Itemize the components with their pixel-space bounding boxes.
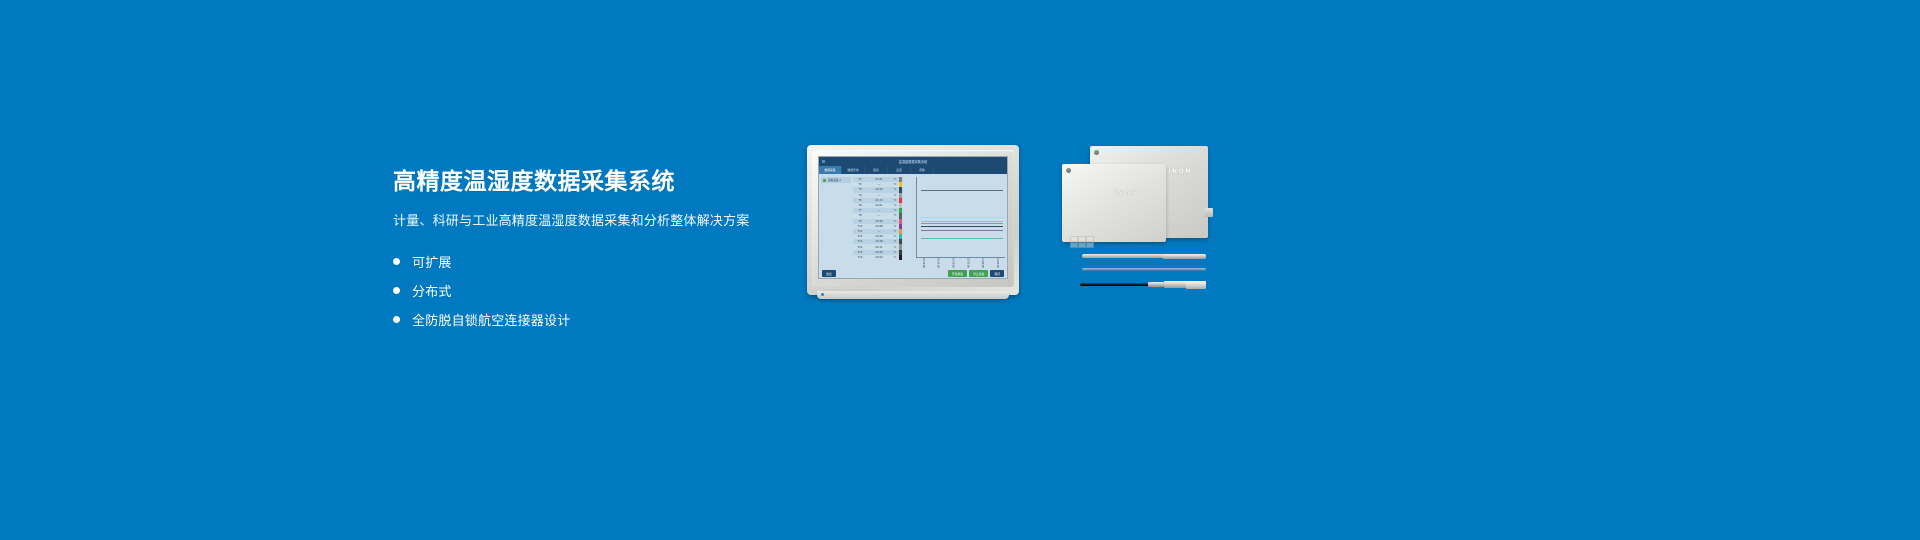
x-tick-label: 10:45:00 (937, 258, 940, 269)
cell-value: 24.96 (867, 220, 891, 223)
cell-value: 24.99 (867, 188, 891, 191)
series-color-swatch (899, 255, 902, 260)
feature-label: 可扩展 (412, 252, 452, 271)
probe-end-cap (1186, 281, 1206, 289)
feature-label: 全防脱自锁航空连接器设计 (412, 310, 570, 329)
screw-icon (1066, 168, 1071, 173)
cell-value: 21.81 (867, 178, 891, 181)
cell-unit: ℃ (891, 194, 899, 197)
list-item: 全防脱自锁航空连接器设计 (393, 305, 823, 334)
screw-icon (1094, 150, 1099, 155)
cell-unit: ℃ (891, 246, 899, 249)
trend-chart: 10:40:00 10:45:00 10:50:00 10:55:00 11:0… (905, 177, 1005, 269)
page-title: 高精度温湿度数据采集系统 (393, 168, 823, 197)
save-button[interactable]: 保存 (990, 270, 1004, 277)
bullet-dot-icon (393, 258, 400, 265)
cell-unit: ℃ (891, 183, 899, 186)
cell-value: 24.72 (867, 199, 891, 202)
x-tick-label: 10:55:00 (966, 258, 969, 269)
hero-banner: 高精度温湿度数据采集系统 计量、科研与工业高精度温湿度数据采集和分析整体解决方案… (0, 0, 1920, 540)
page-subtitle: 计量、科研与工业高精度温湿度数据采集和分析整体解决方案 (393, 210, 823, 229)
connector-port-icon (1205, 208, 1213, 217)
acquisition-app: 温湿度数据采集系统 数据采集 数据查询 报表 设置 帮助 采集设 (819, 157, 1007, 278)
bullet-dot-icon (393, 287, 400, 294)
bullet-dot-icon (393, 316, 400, 323)
brand-logo-text: INON (1114, 190, 1138, 197)
cell-unit: ℃ (891, 178, 899, 181)
chart-series-t3 (921, 226, 1004, 227)
tab-data-query[interactable]: 数据查询 (842, 166, 865, 174)
list-item[interactable]: 采集设备-1 (821, 177, 851, 183)
cell-unit: ℃ (891, 251, 899, 254)
cell-value: 24.94 (867, 256, 891, 259)
app-titlebar: 温湿度数据采集系统 (819, 157, 1007, 166)
cell-channel: T4 (853, 194, 867, 197)
list-item: 分布式 (393, 276, 823, 305)
monitor-chassis: 温湿度数据采集系统 数据采集 数据查询 报表 设置 帮助 采集设 (807, 145, 1019, 295)
feature-list: 可扩展 分布式 全防脱自锁航空连接器设计 (393, 247, 823, 334)
panel-pc-product-image: 温湿度数据采集系统 数据采集 数据查询 报表 设置 帮助 采集设 (807, 145, 1019, 295)
cell-channel: T9 (853, 220, 867, 223)
chart-series-t1 (921, 190, 1004, 191)
x-tick-label: 10:40:00 (922, 258, 925, 269)
cell-unit: ℃ (891, 188, 899, 191)
cell-value: 24.11 (867, 246, 891, 249)
cell-channel: T16 (853, 256, 867, 259)
monitor-screen: 温湿度数据采集系统 数据采集 数据查询 报表 设置 帮助 采集设 (818, 156, 1008, 279)
cell-unit: ℃ (891, 240, 899, 243)
cell-unit: ℃ (891, 235, 899, 238)
terminal-block-embossing (1070, 236, 1104, 252)
app-title-text: 温湿度数据采集系统 (899, 159, 928, 164)
cell-unit: ℃ (891, 204, 899, 207)
enclosure-front-unit (1062, 164, 1166, 242)
tab-data-acquisition[interactable]: 数据采集 (819, 166, 842, 174)
cell-channel: T5 (853, 199, 867, 202)
probe-connector-barrel (1164, 281, 1188, 288)
stainless-temperature-probe (1082, 254, 1206, 258)
cell-value: --- (867, 209, 891, 212)
cell-value: 24.61 (867, 204, 891, 207)
app-footer-toolbar: 退出 开始采集 停止采集 保存 (819, 269, 1007, 278)
cell-value: --- (867, 183, 891, 186)
blue-cable-probe (1082, 268, 1206, 271)
cell-channel: T6 (853, 204, 867, 207)
cell-value: --- (867, 194, 891, 197)
cell-value: --- (867, 214, 891, 217)
cell-value: 24.88 (867, 225, 891, 228)
hardware-product-images: INON INON (1062, 142, 1210, 302)
cell-unit: ℃ (891, 220, 899, 223)
cell-unit: ℃ (891, 225, 899, 228)
cell-channel: T1 (853, 178, 867, 181)
chart-series-t9 (921, 217, 1004, 218)
cell-unit: ℃ (891, 214, 899, 217)
power-led-icon (821, 293, 824, 296)
cell-channel: T2 (853, 183, 867, 186)
cell-unit: ℃ (891, 230, 899, 233)
chart-series-t10 (921, 230, 1004, 231)
cell-channel: T3 (853, 188, 867, 191)
cell-channel: T10 (853, 225, 867, 228)
cell-unit: ℃ (891, 209, 899, 212)
chart-series-t13 (921, 223, 1004, 224)
feature-label: 分布式 (412, 281, 452, 300)
x-tick-label: 11:05:00 (996, 258, 999, 269)
brand-logo-text: INON (1168, 168, 1192, 175)
cell-channel: T14 (853, 246, 867, 249)
chart-plot-area (916, 177, 1005, 258)
chart-series-t12 (921, 238, 1004, 239)
cell-value: 24.90 (867, 251, 891, 254)
table-row: T16 24.94 ℃ (853, 255, 903, 260)
stop-acquire-button[interactable]: 停止采集 (969, 270, 988, 277)
hero-copy: 高精度温湿度数据采集系统 计量、科研与工业高精度温湿度数据采集和分析整体解决方案… (393, 168, 823, 334)
probe-ferrule (1148, 282, 1164, 287)
cell-channel: T11 (853, 230, 867, 233)
tab-settings[interactable]: 设置 (888, 166, 911, 174)
cell-unit: ℃ (891, 199, 899, 202)
system-menu-icon[interactable] (822, 160, 825, 163)
exit-button[interactable]: 退出 (822, 270, 836, 277)
chart-x-axis: 10:40:00 10:45:00 10:50:00 10:55:00 11:0… (916, 258, 1005, 269)
cell-channel: T13 (853, 240, 867, 243)
monitor-stand (817, 291, 1009, 299)
cell-value: 24.28 (867, 240, 891, 243)
device-list-panel: 采集设备-1 (821, 177, 851, 269)
cell-channel: T15 (853, 251, 867, 254)
tab-help[interactable]: 帮助 (911, 166, 934, 174)
x-tick-label: 11:00:00 (981, 258, 984, 269)
chart-series-t5 (921, 221, 1004, 222)
cell-channel: T12 (853, 235, 867, 238)
cell-value: --- (867, 230, 891, 233)
cell-channel: T8 (853, 214, 867, 217)
probe-tip (1162, 254, 1206, 259)
device-label: 采集设备-1 (828, 178, 841, 182)
tab-report[interactable]: 报表 (865, 166, 888, 174)
list-item: 可扩展 (393, 247, 823, 276)
cell-unit: ℃ (891, 256, 899, 259)
app-content: 采集设备-1 T1 21.81 ℃ T2 (819, 174, 1007, 269)
x-tick-label: 10:50:00 (952, 258, 955, 269)
channel-table: T1 21.81 ℃ T2 --- ℃ (853, 177, 903, 269)
probe-cable (1080, 283, 1152, 286)
status-online-icon (823, 179, 826, 182)
cell-value: 24.90 (867, 235, 891, 238)
black-cable-connector-probe (1080, 282, 1206, 287)
app-tabbar: 数据采集 数据查询 报表 设置 帮助 (819, 166, 1007, 174)
start-acquire-button[interactable]: 开始采集 (948, 270, 967, 277)
cell-channel: T7 (853, 209, 867, 212)
